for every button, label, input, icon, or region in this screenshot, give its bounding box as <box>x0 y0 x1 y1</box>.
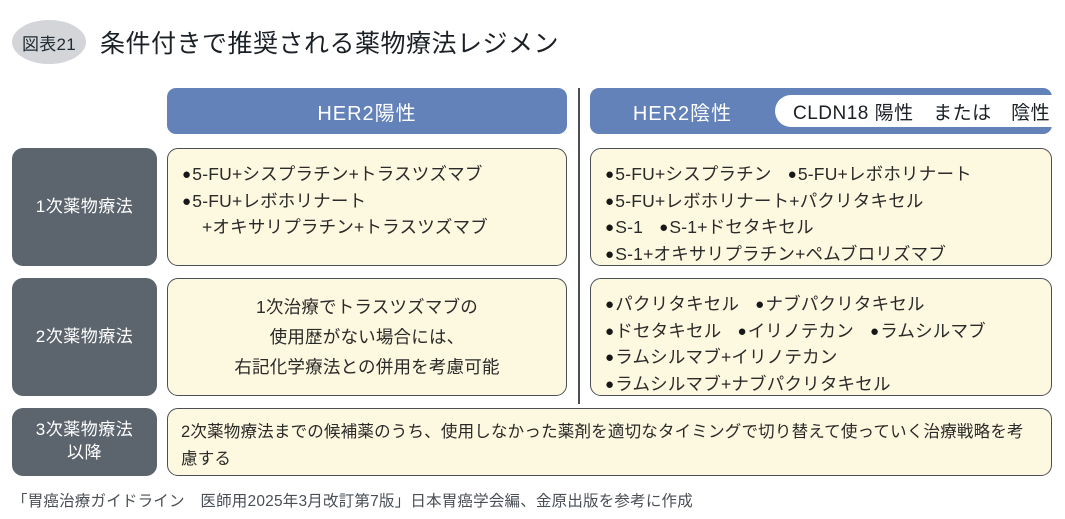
figure-number-badge: 図表21 <box>12 20 86 64</box>
cell-her2-positive-first-line: 5-FU+シスプラチン+トラスツズマブ 5-FU+レボホリナート +オキサリプラ… <box>167 148 567 266</box>
list-item: パクリタキセルナブパクリタキセル <box>605 291 1037 318</box>
list-item-part: S-1 <box>605 217 643 237</box>
list-item-part: ドセタキセル <box>605 321 721 341</box>
list-item-part: 5-FU+レボホリナート <box>772 164 972 184</box>
note-line: 右記化学療法との併用を考慮可能 <box>234 352 499 382</box>
list-item: ドセタキセルイリノテカンラムシルマブ <box>605 318 1037 345</box>
row-label-first-line: 1次薬物療法 <box>12 148 157 266</box>
list-item-continuation: +オキサリプラチン+トラスツズマブ <box>182 214 552 241</box>
list-item: S-1+オキサリプラチン+ペムブロリズマブ <box>605 241 1037 266</box>
list-item-part: S-1+ドセタキセル <box>643 217 814 237</box>
list-item: 5-FU+シスプラチン+トラスツズマブ <box>182 161 552 188</box>
regimen-list: パクリタキセルナブパクリタキセル ドセタキセルイリノテカンラムシルマブ ラムシル… <box>605 291 1037 396</box>
regimen-table: HER2陽性 HER2陰性 CLDN18 陽性 または 陰性 1次薬物療法 2次… <box>0 84 1065 484</box>
column-divider <box>578 88 580 404</box>
note-line: 使用歴がない場合には、 <box>270 322 465 352</box>
header-her2-positive: HER2陽性 <box>167 88 567 134</box>
source-citation: 「胃癌治療ガイドライン 医師用2025年3月改訂第7版」日本胃癌学会編、金原出版… <box>12 489 693 511</box>
regimen-list: 5-FU+シスプラチン5-FU+レボホリナート 5-FU+レボホリナート+パクリ… <box>605 161 1037 266</box>
list-item-part: ナブパクリタキセル <box>739 294 925 314</box>
cell-her2-negative-second-line: パクリタキセルナブパクリタキセル ドセタキセルイリノテカンラムシルマブ ラムシル… <box>590 278 1052 396</box>
row-label-third-line-text: 3次薬物療法 以降 <box>36 419 133 465</box>
list-item-part: パクリタキセル <box>605 294 739 314</box>
cell-her2-negative-first-line: 5-FU+シスプラチン5-FU+レボホリナート 5-FU+レボホリナート+パクリ… <box>590 148 1052 266</box>
row-label-second-line: 2次薬物療法 <box>12 278 157 396</box>
row-label-third-line: 3次薬物療法 以降 <box>12 408 157 476</box>
list-item: ラムシルマブ+イリノテカン <box>605 344 1037 371</box>
row-label-first-line-text: 1次薬物療法 <box>36 196 133 219</box>
header-her2-positive-label: HER2陽性 <box>317 97 416 126</box>
figure-title-row: 図表21 条件付きで推奨される薬物療法レジメン <box>0 14 1065 70</box>
header-her2-negative: HER2陰性 CLDN18 陽性 または 陰性 <box>590 88 1052 134</box>
row-label-third-line-text-b: 以降 <box>67 443 102 462</box>
list-item: 5-FU+シスプラチン5-FU+レボホリナート <box>605 161 1037 188</box>
cell-her2-positive-second-line: 1次治療でトラスツズマブの 使用歴がない場合には、 右記化学療法との併用を考慮可… <box>167 278 567 396</box>
cldn18-status-pill: CLDN18 陽性 または 陰性 <box>775 95 1065 127</box>
list-item-part: ラムシルマブ <box>854 321 986 341</box>
page-title: 条件付きで推奨される薬物療法レジメン <box>100 24 559 60</box>
list-item-part: イリノテカン <box>721 321 853 341</box>
list-item: 5-FU+レボホリナート <box>182 188 552 215</box>
row-label-third-line-text-a: 3次薬物療法 <box>36 420 133 439</box>
note-line: 1次治療でトラスツズマブの <box>256 292 478 322</box>
list-item: S-1S-1+ドセタキセル <box>605 214 1037 241</box>
regimen-list: 5-FU+シスプラチン+トラスツズマブ 5-FU+レボホリナート +オキサリプラ… <box>182 161 552 241</box>
header-her2-negative-label: HER2陰性 <box>590 97 775 126</box>
row-label-second-line-text: 2次薬物療法 <box>36 326 133 349</box>
list-item-part: 5-FU+シスプラチン <box>605 164 772 184</box>
list-item: 5-FU+レボホリナート+パクリタキセル <box>605 188 1037 215</box>
list-item: ラムシルマブ+ナブパクリタキセル <box>605 371 1037 396</box>
cell-third-line-and-beyond: 2次薬物療法までの候補薬のうち、使用しなかった薬剤を適切なタイミングで切り替えて… <box>167 408 1052 476</box>
